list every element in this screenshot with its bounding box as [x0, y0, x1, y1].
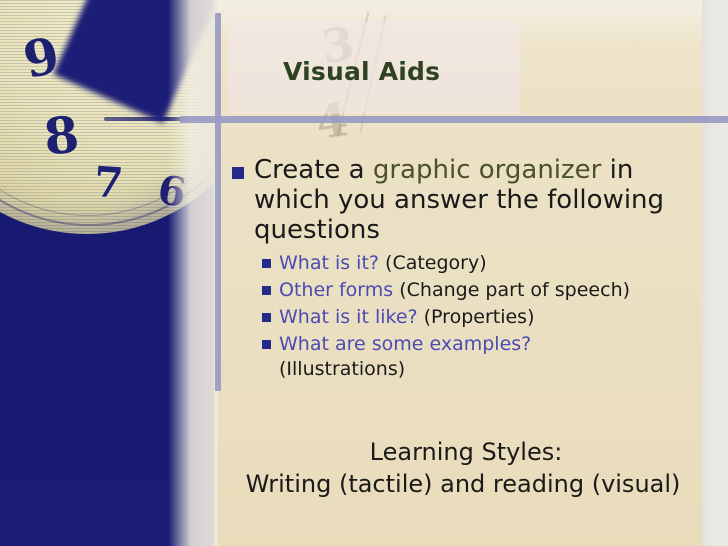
slide-body: Create a graphic organizer in which you …: [232, 155, 700, 384]
bullet-text-before: Create a: [254, 155, 373, 185]
vertical-rule: [215, 13, 221, 391]
bullet-square-icon: [262, 259, 271, 268]
sub-bullet-question: What is it?: [279, 252, 379, 274]
sub-bullet-question: What are some examples?: [279, 333, 531, 355]
sub-bullet-text: What are some examples?(Illustrations): [279, 332, 531, 382]
sub-bullet-note: (Change part of speech): [393, 279, 630, 301]
bullet-square-icon: [232, 167, 244, 179]
bullet-level1-text: Create a graphic organizer in which you …: [254, 155, 676, 245]
list-item: What is it like? (Properties): [262, 305, 700, 330]
sub-bullet-question: Other forms: [279, 279, 393, 301]
bullet-square-icon: [262, 340, 271, 349]
bullet-square-icon: [262, 313, 271, 322]
page-title: Visual Aids: [283, 57, 440, 86]
bullet-text-highlight: graphic organizer: [373, 155, 602, 185]
sub-bullet-note: (Category): [379, 252, 487, 274]
right-edge-strip: [700, 0, 728, 546]
sub-bullet-text: Other forms (Change part of speech): [279, 278, 630, 303]
presentation-slide: 3 4 9 8 7 6 Visual Aids Create a graphic…: [0, 0, 728, 546]
footer-line-1: Learning Styles:: [232, 436, 700, 468]
list-item: What are some examples?(Illustrations): [262, 332, 700, 382]
bullet-square-icon: [262, 286, 271, 295]
photo-panel-blend: [168, 0, 218, 546]
footer-line-2: Writing (tactile) and reading (visual): [226, 468, 700, 500]
sub-bullet-note: (Illustrations): [279, 357, 531, 382]
list-item: What is it? (Category): [262, 251, 700, 276]
sub-bullet-question: What is it like?: [279, 306, 418, 328]
sub-bullet-text: What is it? (Category): [279, 251, 487, 276]
list-item: Other forms (Change part of speech): [262, 278, 700, 303]
slide-footer: Learning Styles: Writing (tactile) and r…: [232, 436, 700, 500]
sub-bullet-note: (Properties): [418, 306, 535, 328]
sub-bullet-list: What is it? (Category) Other forms (Chan…: [262, 251, 700, 382]
horizontal-rule: [180, 116, 728, 123]
sub-bullet-text: What is it like? (Properties): [279, 305, 535, 330]
bullet-level1: Create a graphic organizer in which you …: [232, 155, 700, 245]
